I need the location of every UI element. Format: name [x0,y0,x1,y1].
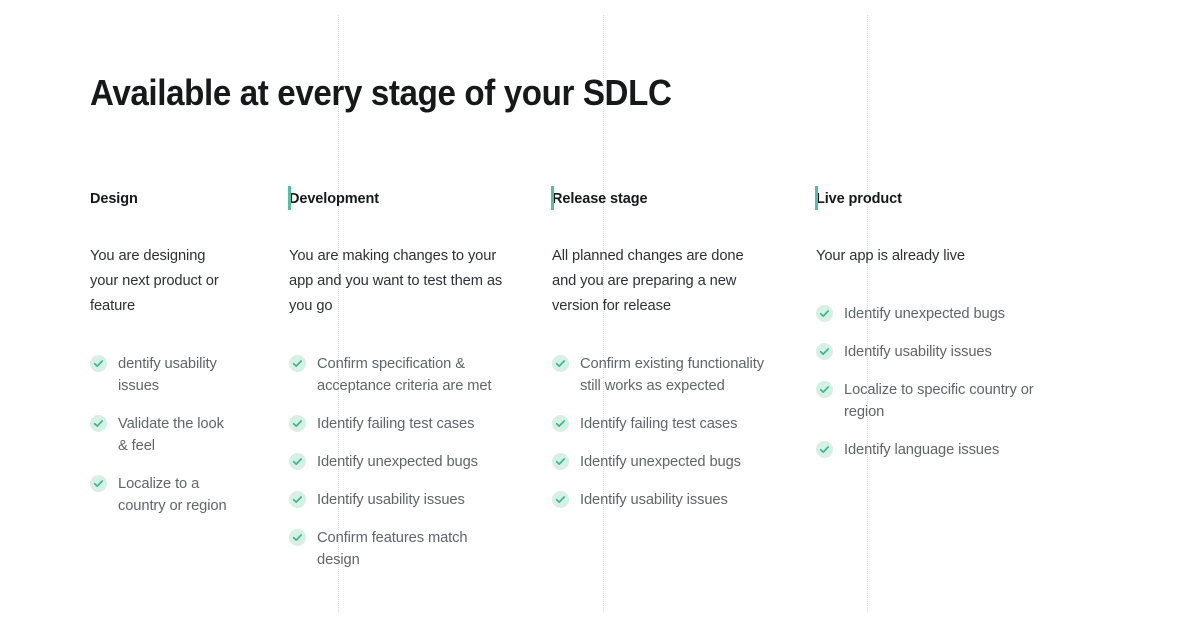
check-circle-icon [816,305,833,322]
list-item: Identify unexpected bugs [552,451,770,473]
stage-description: Your app is already live [816,244,1031,269]
check-circle-icon [816,441,833,458]
check-circle-icon [289,491,306,508]
list-item-label: Localize to a country or region [118,473,237,517]
list-item: Localize to a country or region [90,473,237,517]
check-circle-icon [90,415,107,432]
list-item-label: dentify usability issues [118,353,237,397]
check-circle-icon [552,415,569,432]
stage-description: All planned changes are done and you are… [552,244,767,319]
stage-title: Design [90,192,138,207]
list-item: Confirm specification & acceptance crite… [289,353,506,397]
check-circle-icon [90,475,107,492]
list-item-label: Confirm features match design [317,527,499,571]
list-item-label: Identify unexpected bugs [317,451,478,473]
stage-title: Live product [816,192,902,207]
stage-header-live-product: Live product [816,186,1040,212]
list-item: Identify unexpected bugs [816,303,1040,325]
stage-checklist: dentify usability issues Validate the lo… [90,353,237,517]
stage-column-live-product: Live product Your app is already live Id… [794,186,1064,571]
list-item: Identify unexpected bugs [289,451,506,473]
list-item-label: Confirm existing functionality still wor… [580,353,770,397]
slide-canvas: Available at every stage of your SDLC De… [0,0,1200,630]
stage-title: Release stage [552,192,647,207]
list-item-label: Identify unexpected bugs [580,451,741,473]
stage-header-design: Design [90,186,237,212]
check-circle-icon [552,491,569,508]
check-circle-icon [552,453,569,470]
list-item: Identify failing test cases [552,413,770,435]
list-item-label: Identify usability issues [844,341,992,363]
check-circle-icon [90,355,107,372]
check-circle-icon [816,381,833,398]
stage-checklist: Identify unexpected bugs Identify usabil… [816,303,1040,461]
stage-header-development: Development [289,186,506,212]
stage-checklist: Confirm specification & acceptance crite… [289,353,506,571]
stage-column-development: Development You are making changes to yo… [265,186,530,571]
stage-description: You are designing your next product or f… [90,244,237,319]
accent-bar-icon [288,186,291,210]
stage-header-release: Release stage [552,186,770,212]
list-item-label: Identify failing test cases [317,413,474,435]
list-item: Identify usability issues [289,489,506,511]
list-item: Confirm existing functionality still wor… [552,353,770,397]
check-circle-icon [816,343,833,360]
list-item-label: Localize to specific country or region [844,379,1040,423]
list-item-label: Validate the look & feel [118,413,237,457]
list-item-label: Confirm specification & acceptance crite… [317,353,499,397]
list-item: Identify failing test cases [289,413,506,435]
check-circle-icon [289,415,306,432]
list-item: Identify language issues [816,439,1040,461]
stage-description: You are making changes to your app and y… [289,244,504,319]
accent-bar-icon [551,186,554,210]
stage-columns: Design You are designing your next produ… [0,186,1200,571]
list-item: dentify usability issues [90,353,237,397]
list-item-label: Identify usability issues [317,489,465,511]
stage-checklist: Confirm existing functionality still wor… [552,353,770,511]
list-item: Confirm features match design [289,527,506,571]
stage-title: Development [289,192,379,207]
list-item-label: Identify language issues [844,439,999,461]
accent-bar-icon [815,186,818,210]
list-item-label: Identify failing test cases [580,413,737,435]
list-item: Validate the look & feel [90,413,237,457]
list-item: Identify usability issues [552,489,770,511]
list-item: Localize to specific country or region [816,379,1040,423]
check-circle-icon [289,453,306,470]
stage-column-release: Release stage All planned changes are do… [530,186,794,571]
check-circle-icon [552,355,569,372]
list-item-label: Identify usability issues [580,489,728,511]
list-item: Identify usability issues [816,341,1040,363]
stage-column-design: Design You are designing your next produ… [0,186,265,571]
check-circle-icon [289,355,306,372]
check-circle-icon [289,529,306,546]
list-item-label: Identify unexpected bugs [844,303,1005,325]
page-title: Available at every stage of your SDLC [90,72,672,113]
